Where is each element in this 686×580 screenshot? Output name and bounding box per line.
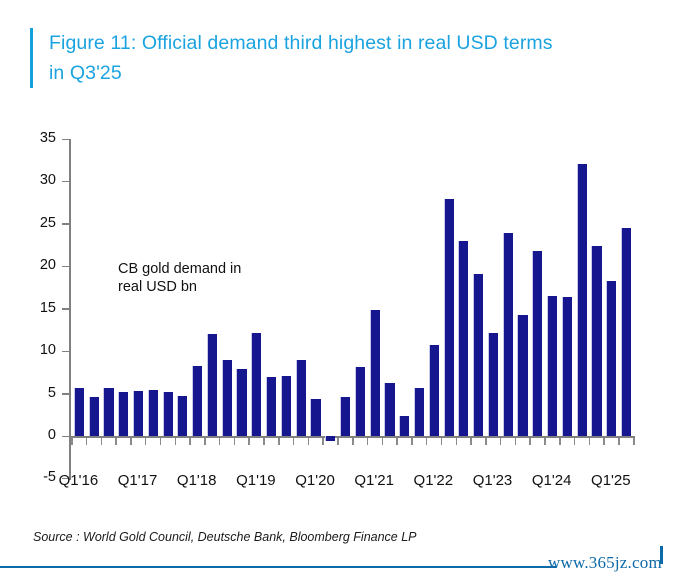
x-tick-mark — [115, 438, 117, 445]
x-tick-mark — [234, 438, 236, 445]
x-tick-label: Q1'16 — [48, 472, 108, 489]
x-tick-mark — [559, 438, 561, 445]
x-tick-mark — [145, 438, 147, 445]
x-tick-mark — [101, 438, 103, 445]
x-tick-label: Q1'17 — [108, 472, 168, 489]
x-tick-mark — [544, 438, 546, 445]
x-tick-mark — [160, 438, 162, 445]
figure-title-block: Figure 11: Official demand third highest… — [30, 28, 670, 88]
x-tick-mark — [248, 438, 250, 445]
x-tick-mark — [529, 438, 531, 445]
x-tick-mark — [219, 438, 221, 445]
figure-page: Figure 11: Official demand third highest… — [0, 0, 686, 580]
x-tick-mark — [500, 438, 502, 445]
x-tick-mark — [293, 438, 295, 445]
figure-title-line-2: in Q3'25 — [49, 62, 122, 84]
x-tick-mark — [204, 438, 206, 445]
x-tick-label: Q1'22 — [403, 472, 463, 489]
source-note: Source : World Gold Council, Deutsche Ba… — [33, 530, 417, 544]
x-tick-label: Q1'19 — [226, 472, 286, 489]
x-tick-label: Q1'23 — [463, 472, 523, 489]
x-tick-mark — [86, 438, 88, 445]
bar-chart: -505101520253035 CB gold demand in real … — [0, 120, 686, 520]
figure-title-line-1: Figure 11: Official demand third highest… — [49, 32, 553, 54]
x-axis-ticks — [0, 120, 686, 520]
chart-annotation: CB gold demand in real USD bn — [118, 260, 241, 296]
x-tick-mark — [574, 438, 576, 445]
x-tick-label: Q1'20 — [285, 472, 345, 489]
x-axis-labels: Q1'16Q1'17Q1'18Q1'19Q1'20Q1'21Q1'22Q1'23… — [0, 472, 686, 498]
x-tick-label: Q1'18 — [167, 472, 227, 489]
x-tick-mark — [189, 438, 191, 445]
x-tick-label: Q1'21 — [344, 472, 404, 489]
watermark-text: www.365jz.com — [548, 553, 662, 573]
x-tick-mark — [515, 438, 517, 445]
x-tick-mark — [485, 438, 487, 445]
x-tick-mark — [382, 438, 384, 445]
x-tick-mark — [278, 438, 280, 445]
watermark-rule — [0, 566, 556, 568]
x-tick-mark — [308, 438, 310, 445]
x-tick-mark — [130, 438, 132, 445]
x-tick-mark — [426, 438, 428, 445]
x-tick-label: Q1'24 — [522, 472, 582, 489]
annotation-line-1: CB gold demand in — [118, 261, 241, 277]
x-tick-label: Q1'25 — [581, 472, 641, 489]
x-tick-mark — [337, 438, 339, 445]
x-tick-mark — [411, 438, 413, 445]
x-tick-mark — [71, 438, 73, 445]
x-tick-mark — [470, 438, 472, 445]
x-tick-mark — [367, 438, 369, 445]
x-tick-mark — [633, 438, 635, 445]
x-tick-mark — [352, 438, 354, 445]
title-accent-bar — [30, 28, 33, 88]
x-tick-mark — [175, 438, 177, 445]
annotation-line-2: real USD bn — [118, 279, 197, 295]
x-tick-mark — [322, 438, 324, 445]
x-tick-mark — [618, 438, 620, 445]
x-tick-mark — [456, 438, 458, 445]
x-tick-mark — [603, 438, 605, 445]
x-tick-mark — [396, 438, 398, 445]
x-tick-mark — [441, 438, 443, 445]
x-tick-mark — [589, 438, 591, 445]
x-tick-mark — [263, 438, 265, 445]
page-title: Figure 11: Official demand third highest… — [49, 28, 553, 88]
